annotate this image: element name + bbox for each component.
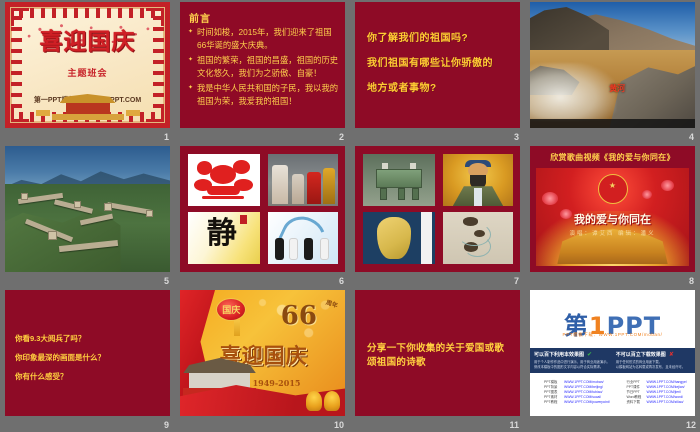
question-line: 你看9.3大阅兵了吗？ [15, 333, 162, 344]
slide-cell-1: 喜迎国庆 主题班会 第一PPT模板网-WWW.1PPT.COM 1 [0, 0, 175, 144]
waterfall-mist [530, 63, 616, 121]
video-credits: 演唱：谭艾西 编辑：潘义 [536, 229, 689, 237]
great-wall-structure [15, 184, 164, 262]
slide-cell-9: 你看9.3大阅兵了吗？ 你印象最深的画面是什么？ 你有什么感受？ 9 [0, 288, 175, 432]
slide-title: 喜迎国庆 [5, 22, 170, 56]
allowed-title: 可以百下利用本效果图 [534, 352, 584, 358]
calligraphy-image: 静 [188, 212, 260, 264]
allowed-column: 可以百下利用本效果图✔ 用于个人制作作品中进行演示，用于商业用途演示。 修改本模… [534, 351, 612, 370]
link-category: PPT教程 [544, 400, 564, 405]
resource-links: PPT模板 PPT背景 PPT图表 PPT素材 PPT教程 WWW.1PPT.C… [530, 380, 695, 405]
question-line: 我们祖国有哪些让你骄傲的 [367, 54, 512, 69]
tiananmen-icon [52, 94, 124, 120]
slide-cell-4: 黄河 4 [525, 0, 700, 144]
slide-number-11: 11 [509, 420, 519, 430]
link-category: 资料下载 [627, 400, 647, 405]
lion-dance-icon [306, 391, 322, 411]
papercutting-image [188, 154, 260, 206]
slide-number-12: 12 [686, 420, 696, 430]
slide-cell-11: 分享一下你收集的关于爱国或歌颂祖国的诗歌 11 [350, 288, 525, 432]
anniversary-number: 66 [281, 303, 317, 329]
question-line: 地方或者事物? [367, 79, 512, 94]
share-prompt-text: 分享一下你收集的关于爱国或歌颂祖国的诗歌 [367, 342, 510, 370]
link-categories: PPT模板 PPT背景 PPT图表 PPT素材 PPT教程 [544, 380, 564, 405]
question-line: 你印象最深的画面是什么？ [15, 352, 162, 363]
martial-arts-image [268, 212, 338, 264]
corner-ornament-bottom-right [146, 104, 164, 122]
link-group: 行业PPT PPT课件 节日PPT Word教程 资料下载 WWW.1PPT.C… [613, 380, 696, 405]
video-title: 我的爱与你同在 [536, 211, 689, 227]
slide-number-2: 2 [339, 132, 344, 142]
slide-thumbnail-9[interactable]: 你看9.3大阅兵了吗？ 你印象最深的画面是什么？ 你有什么感受？ [5, 290, 170, 416]
preface-bullet-list: 时间如梭，2015年，我们迎来了祖国66华诞的盛大庆典。 祖国的繁荣，祖国的昌盛… [188, 26, 339, 110]
link-url[interactable]: WWW.1PPT.COM/ziliao/ [647, 400, 696, 405]
slide-thumbnail-2[interactable]: 前言 时间如梭，2015年，我们迎来了祖国66华诞的盛大庆典。 祖国的繁荣，祖国… [180, 2, 345, 128]
calligraphy-character: 静 [207, 219, 237, 249]
slide-cell-10: 国庆 周年 66 喜迎国庆 1949-2015 10 [175, 288, 350, 432]
bronze-ding-image [363, 154, 435, 206]
slide-thumbnail-grid: 喜迎国庆 主题班会 第一PPT模板网-WWW.1PPT.COM 1 前言 时间如… [0, 0, 700, 432]
slide-thumbnail-10[interactable]: 国庆 周年 66 喜迎国庆 1949-2015 [180, 290, 345, 416]
forbidden-column: 不可以百立下载效果图✘ 用于任何形式的商业用途下载。 以模板网站为名转载或再次发… [616, 351, 694, 370]
slide-thumbnail-1[interactable]: 喜迎国庆 主题班会 第一PPT模板网-WWW.1PPT.COM [5, 2, 170, 128]
slide-subtitle: 主题班会 [5, 66, 170, 79]
slide-thumbnail-11[interactable]: 分享一下你收集的关于爱国或歌颂祖国的诗歌 [355, 290, 520, 416]
slide-number-8: 8 [689, 276, 694, 286]
slide-thumbnail-4[interactable]: 黄河 [530, 2, 695, 128]
slide-number-3: 3 [514, 132, 519, 142]
list-item: 祖国的繁荣，祖国的昌盛，祖国的历史文化悠久，我们为之骄傲、自豪！ [188, 54, 339, 79]
license-band: 可以百下利用本效果图✔ 用于个人制作作品中进行演示，用于商业用途演示。 修改本模… [530, 348, 695, 373]
border-pattern-top [19, 8, 156, 18]
link-categories: 行业PPT PPT课件 节日PPT Word教程 资料下载 [627, 380, 647, 405]
photo-caption: 黄河 [609, 83, 625, 94]
slide-cell-7: 7 [350, 144, 525, 288]
confucius-portrait-image [443, 154, 513, 206]
slide-cell-5: 5 [0, 144, 175, 288]
slide-thumbnail-6[interactable]: 静 [180, 146, 345, 272]
slide-thumbnail-12[interactable]: 第1PPT PPT模板下载：WWW.1PPT.COM/moban/ 可以百下利用… [530, 290, 695, 416]
photo-footer-bar [530, 119, 695, 128]
brand-url: PPT模板下载：WWW.1PPT.COM/moban/ [530, 332, 695, 338]
peking-opera-image [268, 154, 338, 206]
year-range: 1949-2015 [253, 378, 301, 388]
link-url[interactable]: WWW.1PPT.COM/powerpoint/ [564, 400, 613, 405]
slide-thumbnail-7[interactable] [355, 146, 520, 272]
ancient-painting-image [443, 212, 513, 264]
link-urls[interactable]: WWW.1PPT.COM/moban/ WWW.1PPT.COM/beijing… [564, 380, 613, 405]
slide-thumbnail-5[interactable] [5, 146, 170, 272]
video-heading: 欣赏歌曲视频《我的爱与你同在》 [530, 152, 695, 163]
lantern-text: 国庆 [217, 299, 245, 320]
lantern-tassel [234, 320, 240, 336]
slide-cell-12: 第1PPT PPT模板下载：WWW.1PPT.COM/moban/ 可以百下利用… [525, 288, 700, 432]
link-group: PPT模板 PPT背景 PPT图表 PPT素材 PPT教程 WWW.1PPT.C… [530, 380, 613, 405]
cross-icon: ✘ [669, 352, 674, 358]
question-line: 你有什么感受？ [15, 371, 162, 382]
slide-thumbnail-8[interactable]: 欣赏歌曲视频《我的爱与你同在》 ★ 我的爱与你同在 演唱：谭艾西 编辑：潘义 [530, 146, 695, 272]
link-urls[interactable]: WWW.1PPT.COM/hangye/ WWW.1PPT.COM/kejian… [647, 380, 696, 405]
slide-thumbnail-3[interactable]: 你了解我们的祖国吗? 我们祖国有哪些让你骄傲的 地方或者事物? [355, 2, 520, 128]
video-thumbnail[interactable]: ★ 我的爱与你同在 演唱：谭艾西 编辑：潘义 [536, 168, 689, 266]
corner-ornament-bottom-left [11, 104, 29, 122]
check-icon: ✔ [587, 352, 592, 358]
allowed-line: 修改本模板中的图形文字内容以符合实际需求。 [534, 365, 612, 370]
slide-cell-3: 你了解我们的祖国吗? 我们祖国有哪些让你骄傲的 地方或者事物? 3 [350, 0, 525, 144]
list-item: 时间如梭，2015年，我们迎来了祖国66华诞的盛大庆典。 [188, 26, 339, 51]
preface-heading: 前言 [189, 10, 211, 25]
national-emblem-icon: ★ [598, 174, 628, 204]
slide-number-10: 10 [334, 420, 344, 430]
slide-cell-2: 前言 时间如梭，2015年，我们迎来了祖国66华诞的盛大庆典。 祖国的繁荣，祖国… [175, 0, 350, 144]
question-line: 你了解我们的祖国吗? [367, 29, 512, 44]
lantern-icon: 国庆 [216, 298, 246, 321]
slide-number-9: 9 [164, 420, 169, 430]
forbidden-line: 以模板网站为名转载或再次发布，且未经许可。 [616, 365, 694, 370]
oracle-bone-image [363, 212, 435, 264]
slide-number-5: 5 [164, 276, 169, 286]
slide-number-4: 4 [689, 132, 694, 142]
list-item: 我是中华人民共和国的子民，我以我的祖国为荣，我爱我的祖国！ [188, 82, 339, 107]
forbidden-title: 不可以百立下载效果图 [616, 352, 666, 358]
slide-cell-6: 静 6 [175, 144, 350, 288]
slide-number-6: 6 [339, 276, 344, 286]
slide-number-7: 7 [514, 276, 519, 286]
lion-dance-icon [324, 391, 340, 411]
slide-cell-8: 欣赏歌曲视频《我的爱与你同在》 ★ 我的爱与你同在 演唱：谭艾西 编辑：潘义 8 [525, 144, 700, 288]
slide-number-1: 1 [164, 132, 169, 142]
